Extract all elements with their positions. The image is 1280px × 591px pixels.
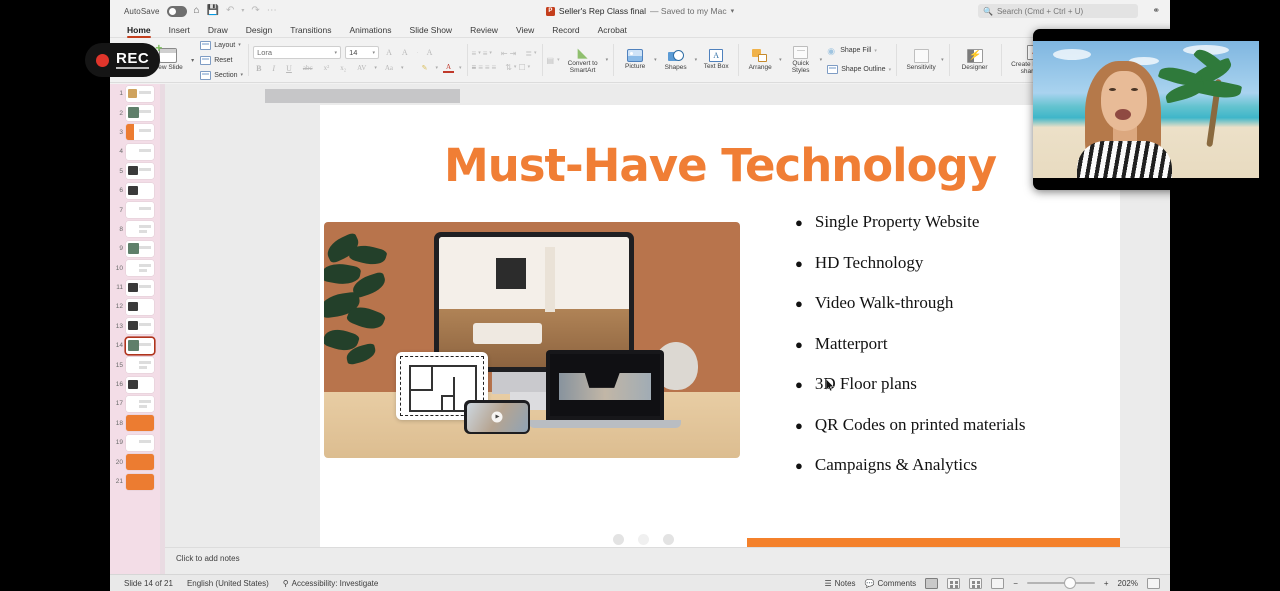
picture-icon	[627, 49, 643, 62]
ribbon-group-arrange: Arrange ▾ Quick Styles ▾ ◉ Shape Fill ▾	[738, 38, 896, 82]
numbering-dropdown-icon[interactable]: ▾	[489, 50, 492, 56]
bullet-dot-icon: ●	[795, 378, 803, 391]
decrease-indent-icon[interactable]: ⇤	[501, 49, 508, 58]
bullet-dot-icon: ●	[795, 419, 803, 432]
webcam-video-overlay[interactable]	[1033, 29, 1259, 190]
home-icon[interactable]: ⌂	[194, 6, 200, 16]
status-bar: Slide 14 of 21 English (United States) ⚲…	[110, 574, 1170, 591]
slide-thumbnail-preview[interactable]	[126, 396, 154, 412]
slide-title[interactable]: Must-Have Technology	[320, 139, 1120, 192]
slide-thumbnail-preview[interactable]	[126, 357, 154, 373]
align-right-icon[interactable]: ≡	[485, 63, 490, 72]
slide-thumbnail-number: 15	[112, 362, 123, 369]
bullet-text: QR Codes on printed materials	[815, 416, 1026, 433]
notes-pane[interactable]: Click to add notes	[165, 547, 1170, 574]
shrink-font-button[interactable]: A	[399, 48, 411, 57]
slide-bullet-list[interactable]: ●Single Property Website●HD Technology●V…	[795, 213, 1095, 497]
shape-outline-button[interactable]: Shape Outline ▾	[827, 63, 891, 76]
slide-thumbnail-20[interactable]: 20	[110, 452, 165, 471]
laptop-base	[529, 420, 680, 428]
slide-thumbnail-preview[interactable]	[126, 474, 154, 490]
line-spacing-icon[interactable]: ≣	[525, 49, 532, 58]
underline-button[interactable]: U	[283, 64, 295, 73]
shape-fill-dropdown-icon[interactable]: ▾	[874, 48, 877, 54]
search-icon: 🔍	[983, 7, 993, 16]
comments-label: Comments	[878, 579, 917, 588]
slide-thumbnail-13[interactable]: 13	[110, 317, 165, 336]
section-button[interactable]: Section ▾	[200, 69, 243, 82]
slide-bullet-item[interactable]: ●QR Codes on printed materials	[795, 416, 1095, 433]
slide-thumbnail-number: 16	[112, 381, 123, 388]
text-direction-icon[interactable]: ⇅	[505, 63, 512, 72]
bullet-dot-icon: ●	[795, 459, 803, 472]
phone-screen-video	[467, 403, 528, 432]
font-family-input[interactable]: Lora ▾	[253, 46, 341, 59]
phone-device	[464, 400, 530, 434]
slide-thumbnail-number: 3	[112, 129, 123, 136]
arrange-button[interactable]: Arrange	[743, 49, 777, 72]
chevron-down-icon[interactable]: ▾	[731, 7, 735, 15]
slide-thumbnail-preview[interactable]	[126, 241, 154, 257]
shape-fill-icon: ◉	[827, 46, 837, 56]
autosave-toggle[interactable]	[167, 6, 187, 17]
powerpoint-window: AutoSave ⌂ 💾 ↶ ▾ ↷ ⋯ P Seller's Rep Clas…	[110, 0, 1170, 591]
reset-button[interactable]: Reset	[200, 54, 243, 67]
slide-thumbnail-16[interactable]: 16	[110, 375, 165, 394]
grow-font-button[interactable]: A	[383, 48, 395, 57]
ribbon-group-slides: + New Slide ▾ Layout ▾ Reset	[146, 38, 248, 82]
shape-outline-icon	[827, 65, 838, 74]
search-box[interactable]: 🔍	[978, 4, 1138, 18]
slide-thumbnail-preview[interactable]	[126, 183, 154, 199]
convert-to-smartart-button[interactable]: ◣ Convert to SmartArt	[560, 46, 606, 75]
ribbon-group-sensitivity: Sensitivity ▾	[896, 38, 949, 82]
bullet-dot-icon: ●	[795, 216, 803, 229]
slide-canvas[interactable]: Must-Have Technology MIAMI YPN PRO	[320, 105, 1120, 555]
slide-thumbnail-preview[interactable]	[126, 86, 154, 102]
font-family-value: Lora	[257, 48, 272, 57]
ruler-bar	[265, 89, 460, 103]
shape-fill-button[interactable]: ◉ Shape Fill ▾	[827, 44, 891, 57]
font-color-button[interactable]: A	[443, 63, 454, 73]
section-icon	[200, 71, 211, 80]
slide-bullet-item[interactable]: ●Video Walk-through	[795, 294, 1095, 311]
laptop-screen-matterport	[550, 354, 660, 416]
picture-dropdown-icon[interactable]: ▾	[654, 57, 657, 63]
shape-outline-dropdown-icon[interactable]: ▾	[889, 67, 892, 73]
sensitivity-dropdown-icon[interactable]: ▾	[941, 57, 944, 63]
slide-thumbnail-number: 12	[112, 303, 123, 310]
line-spacing-dropdown-icon[interactable]: ▾	[534, 50, 537, 56]
bullet-dot-icon: ●	[795, 257, 803, 270]
layout-button[interactable]: Layout ▾	[200, 39, 243, 52]
tab-record[interactable]: Record	[543, 25, 588, 37]
italic-button[interactable]: I	[269, 64, 278, 73]
tab-draw[interactable]: Draw	[199, 25, 237, 37]
slide-thumbnail-6[interactable]: 6	[110, 181, 165, 200]
slide-thumbnail-preview[interactable]	[126, 280, 154, 296]
align-left-icon[interactable]: ≡	[472, 63, 477, 72]
strikethrough-button[interactable]: abc	[300, 64, 316, 72]
slide-thumbnail-number: 5	[112, 168, 123, 175]
numbered-list-icon[interactable]: ≡	[483, 49, 488, 58]
sensitivity-icon	[914, 49, 929, 63]
save-icon[interactable]: 💾	[207, 6, 219, 16]
slide-thumbnail-number: 21	[112, 478, 123, 485]
zoom-out-button[interactable]: −	[1013, 579, 1018, 588]
slide-thumbnail-preview[interactable]	[126, 318, 154, 334]
bullet-dot-icon: ●	[795, 338, 803, 351]
ribbon-tabs: Home Insert Draw Design Transitions Anim…	[110, 22, 1170, 38]
justify-icon[interactable]: ≡	[492, 63, 497, 72]
tab-home[interactable]: Home	[118, 25, 160, 37]
tab-acrobat[interactable]: Acrobat	[589, 25, 636, 37]
rec-badge[interactable]: REC	[85, 43, 160, 77]
devices-showcase-photo[interactable]	[324, 222, 740, 458]
notes-toggle[interactable]: ☰ Notes	[824, 579, 855, 588]
tab-transitions[interactable]: Transitions	[281, 25, 340, 37]
section-dropdown-icon[interactable]: ▾	[241, 72, 244, 78]
font-size-value: 14	[349, 48, 357, 57]
status-bar-left: Slide 14 of 21 English (United States) ⚲…	[110, 579, 378, 588]
slide-thumbnail-number: 19	[112, 439, 123, 446]
change-case-dropdown-icon[interactable]: ▾	[401, 65, 404, 71]
play-icon	[492, 412, 503, 423]
slide-thumbnail-number: 20	[112, 459, 123, 466]
zoom-slider-handle[interactable]	[1065, 578, 1075, 588]
slide-thumbnail-number: 17	[112, 400, 123, 407]
bulleted-list-icon[interactable]: ≡	[472, 49, 477, 58]
text-box-icon: A	[709, 49, 723, 62]
document-title: Seller's Rep Class final	[559, 6, 646, 16]
presenter-view-button[interactable]	[991, 578, 1004, 589]
slide-thumbnail-21[interactable]: 21	[110, 472, 165, 491]
slide-counter[interactable]: Slide 14 of 21	[124, 579, 173, 588]
layout-dropdown-icon[interactable]: ▾	[238, 42, 241, 48]
more-icon[interactable]: ⋯	[267, 6, 277, 16]
align-text-dropdown-icon[interactable]: ▾	[528, 64, 531, 70]
shapes-button[interactable]: Shapes	[659, 49, 693, 72]
slide-thumbnail-number: 8	[112, 226, 123, 233]
slide-thumbnail-15[interactable]: 15	[110, 355, 165, 374]
normal-view-button[interactable]	[925, 578, 938, 589]
bullet-text: HD Technology	[815, 254, 924, 271]
slide-thumbnail-17[interactable]: 17	[110, 394, 165, 413]
notes-icon: ☰	[824, 579, 831, 588]
slide-thumbnail-preview[interactable]	[126, 202, 154, 218]
laptop-device	[546, 350, 664, 430]
bullet-text: Single Property Website	[815, 213, 980, 230]
smartart-dropdown-icon[interactable]: ▾	[606, 57, 609, 63]
shapes-icon	[668, 49, 684, 63]
slide-bullet-item[interactable]: ●Matterport	[795, 335, 1095, 352]
nav-dot-3[interactable]	[663, 534, 674, 545]
slide-thumbnail-10[interactable]: 10	[110, 259, 165, 278]
slide-thumbnail-number: 2	[112, 110, 123, 117]
slide-thumbnail-number: 9	[112, 245, 123, 252]
quick-styles-button[interactable]: Quick Styles	[784, 46, 818, 75]
slide-thumbnail-number: 4	[112, 148, 123, 155]
undo-icon[interactable]: ↶	[226, 6, 234, 16]
superscript-button[interactable]: x²	[321, 64, 333, 72]
shapes-dropdown-icon[interactable]: ▾	[695, 57, 698, 63]
accessibility-status[interactable]: ⚲ Accessibility: Investigate	[283, 579, 379, 588]
webcam-video-frame	[1033, 41, 1259, 178]
ribbon-group-paragraph: ≡▾ ≡▾ ⇤ ⇥ ≣▾ ≡ ≡ ≡ ≡ ⇅▾	[467, 38, 542, 82]
rec-label: REC	[116, 51, 149, 69]
ribbon: Cut Copy ▾ Format + New Slide ▾ Layout ▾	[110, 38, 1170, 83]
notes-label: Notes	[835, 579, 856, 588]
slide-canvas-area[interactable]: Must-Have Technology MIAMI YPN PRO	[165, 84, 1170, 574]
accessibility-label: Accessibility: Investigate	[292, 579, 379, 588]
reset-icon	[200, 56, 211, 65]
slide-thumbnail-preview[interactable]	[126, 454, 154, 470]
title-bar: AutoSave ⌂ 💾 ↶ ▾ ↷ ⋯ P Seller's Rep Clas…	[110, 0, 1170, 22]
tab-slide-show[interactable]: Slide Show	[401, 25, 462, 37]
slide-thumbnail-11[interactable]: 11	[110, 278, 165, 297]
slide-thumbnail-preview[interactable]	[126, 435, 154, 451]
slide-thumbnail-preview[interactable]	[126, 260, 154, 276]
document-saved-state: — Saved to my Mac	[650, 6, 727, 16]
workspace: 123456789101112131415161718192021 Must-H…	[110, 84, 1170, 574]
quick-access-toolbar: AutoSave ⌂ 💾 ↶ ▾ ↷ ⋯	[110, 6, 277, 17]
status-bar-right: ☰ Notes 💬 Comments − + 202%	[824, 578, 1170, 589]
slide-thumbnail-number: 11	[112, 284, 123, 291]
comments-toggle[interactable]: 💬 Comments	[865, 579, 917, 588]
monitor-screen-interior-photo	[439, 237, 629, 367]
font-size-input[interactable]: 14 ▾	[345, 46, 379, 59]
tab-view[interactable]: View	[507, 25, 543, 37]
slide-thumbnail-preview[interactable]	[126, 221, 154, 237]
slide-sorter-view-button[interactable]	[947, 578, 960, 589]
designer-button[interactable]: ⚡ Designer	[954, 49, 996, 72]
quick-styles-icon	[793, 46, 808, 59]
redo-icon[interactable]: ↷	[251, 6, 259, 16]
person-mouth	[1115, 109, 1131, 120]
bullets-dropdown-icon[interactable]: ▾	[478, 50, 481, 56]
new-slide-dropdown-icon[interactable]: ▾	[191, 57, 194, 64]
slide-thumbnail-preview[interactable]	[126, 105, 154, 121]
slide-thumbnail-number: 10	[112, 265, 123, 272]
font-family-dropdown-icon[interactable]: ▾	[335, 50, 338, 56]
undo-dropdown-icon[interactable]: ▾	[241, 8, 244, 14]
highlight-dropdown-icon[interactable]: ▾	[435, 65, 438, 71]
slide-thumbnail-preview[interactable]	[126, 377, 154, 393]
bullet-text: Campaigns & Analytics	[815, 456, 977, 473]
align-center-icon[interactable]: ≡	[478, 63, 483, 72]
slide-thumbnail-number: 6	[112, 187, 123, 194]
person-shirt	[1077, 141, 1172, 178]
slide-navigation-dots[interactable]	[613, 534, 674, 545]
bullet-text: Matterport	[815, 335, 888, 352]
picture-button[interactable]: Picture	[618, 49, 652, 71]
designer-icon: ⚡	[967, 49, 983, 63]
slide-thumbnail-preview[interactable]	[126, 163, 154, 179]
bullet-dot-icon: ●	[795, 297, 803, 310]
slide-thumbnail-4[interactable]: 4	[110, 142, 165, 161]
slide-thumbnail-2[interactable]: 2	[110, 103, 165, 122]
slide-thumbnail-9[interactable]: 9	[110, 239, 165, 258]
slide-thumbnail-list: 123456789101112131415161718192021	[110, 84, 165, 491]
powerpoint-file-icon: P	[546, 7, 555, 16]
arrange-dropdown-icon[interactable]: ▾	[779, 57, 782, 63]
change-case-button[interactable]: Aa	[382, 64, 396, 72]
share-icon[interactable]: ⚭	[1152, 5, 1160, 16]
sensitivity-button[interactable]: Sensitivity	[901, 49, 941, 72]
notes-placeholder[interactable]: Click to add notes	[165, 548, 1170, 563]
slide-thumbnail-19[interactable]: 19	[110, 433, 165, 452]
reading-view-button[interactable]	[969, 578, 982, 589]
search-input[interactable]	[997, 7, 1133, 16]
bullet-text: Video Walk-through	[815, 294, 953, 311]
slide-bullet-item[interactable]: ●Single Property Website	[795, 213, 1095, 230]
tab-design[interactable]: Design	[237, 25, 281, 37]
slide-thumbnail-5[interactable]: 5	[110, 162, 165, 181]
subscript-button[interactable]: x₂	[337, 64, 349, 72]
bold-button[interactable]: B	[253, 64, 264, 73]
slide-thumbnail-18[interactable]: 18	[110, 414, 165, 433]
person-face	[1101, 71, 1147, 131]
slide-thumbnail-number: 14	[112, 342, 123, 349]
align-text-icon[interactable]: ☐	[518, 63, 525, 72]
slide-thumbnail-preview[interactable]	[126, 299, 154, 315]
increase-indent-icon[interactable]: ⇥	[510, 49, 517, 58]
slide-thumbnail-number: 1	[112, 90, 123, 97]
slide-bullet-item[interactable]: ●Campaigns & Analytics	[795, 456, 1095, 473]
slide-thumbnail-number: 18	[112, 420, 123, 427]
slide-thumbnail-preview[interactable]	[126, 415, 154, 431]
zoom-slider[interactable]	[1027, 582, 1095, 584]
slide-thumbnail-preview[interactable]	[126, 124, 154, 140]
slide-thumbnail-7[interactable]: 7	[110, 200, 165, 219]
smartart-icon: ◣	[578, 46, 588, 59]
layout-icon	[200, 41, 211, 50]
rec-dot-icon	[96, 54, 109, 67]
character-spacing-button[interactable]: AV	[354, 64, 369, 72]
nav-dot-2[interactable]	[638, 534, 649, 545]
quick-styles-dropdown-icon[interactable]: ▾	[820, 57, 823, 63]
comment-icon: 💬	[865, 579, 875, 588]
slide-thumbnail-1[interactable]: 1	[110, 84, 165, 103]
character-spacing-dropdown-icon[interactable]: ▾	[374, 65, 377, 71]
nav-dot-1[interactable]	[613, 534, 624, 545]
slide-thumbnail-pane[interactable]: 123456789101112131415161718192021	[110, 84, 165, 574]
ribbon-group-insert: Picture ▾ Shapes ▾ A Text Box	[613, 38, 738, 82]
fit-slide-icon[interactable]	[1147, 578, 1160, 589]
ribbon-group-font: Lora ▾ 14 ▾ A A A B I	[248, 38, 466, 82]
highlight-icon[interactable]: ✎	[419, 64, 431, 72]
slide-thumbnail-8[interactable]: 8	[110, 220, 165, 239]
slide-thumbnail-number: 7	[112, 207, 123, 214]
columns-icon[interactable]: ▤	[547, 56, 555, 65]
clear-formatting-button[interactable]: A	[424, 48, 436, 57]
tab-review[interactable]: Review	[461, 25, 507, 37]
mouse-cursor	[826, 379, 834, 391]
language-indicator[interactable]: English (United States)	[187, 579, 269, 588]
accessibility-icon: ⚲	[283, 579, 289, 588]
tab-animations[interactable]: Animations	[340, 25, 400, 37]
slide-thumbnail-preview[interactable]	[126, 338, 154, 354]
font-size-dropdown-icon[interactable]: ▾	[373, 50, 376, 56]
slide-bullet-item[interactable]: ●HD Technology	[795, 254, 1095, 271]
text-box-button[interactable]: A Text Box	[699, 49, 733, 71]
tab-insert[interactable]: Insert	[160, 25, 199, 37]
slide-thumbnail-3[interactable]: 3	[110, 123, 165, 142]
text-direction-dropdown-icon[interactable]: ▾	[514, 64, 517, 70]
new-slide-icon: +	[159, 48, 177, 63]
slide-thumbnail-12[interactable]: 12	[110, 297, 165, 316]
autosave-label: AutoSave	[124, 7, 160, 16]
slide-thumbnail-number: 13	[112, 323, 123, 330]
zoom-in-button[interactable]: +	[1104, 579, 1109, 588]
slide-thumbnail-preview[interactable]	[126, 144, 154, 160]
ribbon-group-smartart: ▤ ▾ ◣ Convert to SmartArt ▾	[542, 38, 614, 82]
ribbon-group-designer: ⚡ Designer	[949, 38, 1001, 82]
font-color-dropdown-icon[interactable]: ▾	[459, 65, 462, 71]
arrange-icon	[752, 49, 768, 63]
zoom-level[interactable]: 202%	[1118, 579, 1138, 588]
screen-root: AutoSave ⌂ 💾 ↶ ▾ ↷ ⋯ P Seller's Rep Clas…	[0, 0, 1280, 591]
slide-thumbnail-14[interactable]: 14	[110, 336, 165, 355]
slide-bullet-item[interactable]: ●3D Floor plans	[795, 375, 1095, 392]
